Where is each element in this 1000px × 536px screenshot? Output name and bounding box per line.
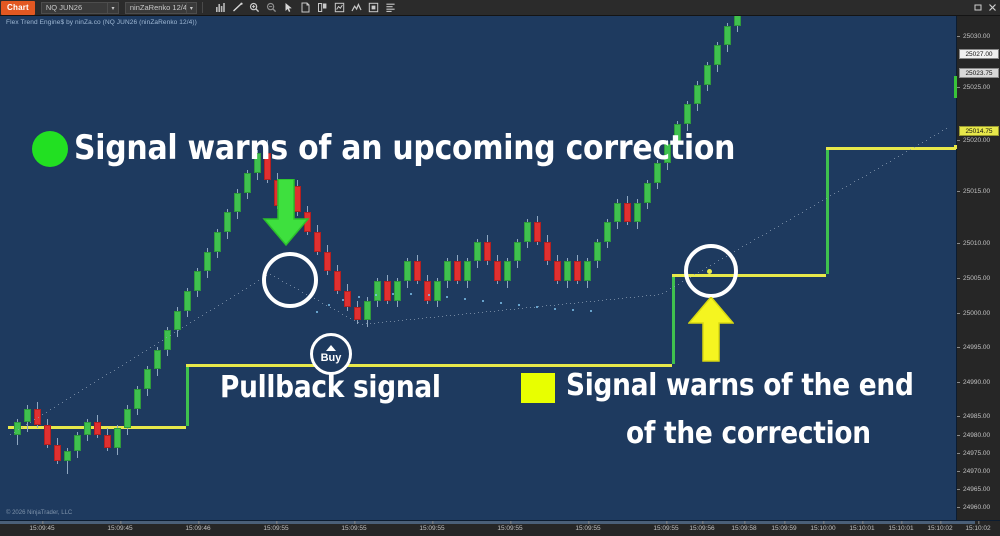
price-axis-tick: 25005.00 [957,274,1000,283]
moving-average-dot [442,316,443,317]
pullback-band-dot [518,304,520,306]
price-axis-tick: 25030.00 [957,32,1000,41]
candle-body [314,232,321,252]
moving-average-dot [522,308,523,309]
moving-average-dot [186,325,187,326]
candle-body [114,428,121,448]
candle-body [614,203,621,223]
candle-body [104,435,111,448]
moving-average-dot [474,313,475,314]
price-axis-tick: 24985.00 [957,412,1000,421]
green-signal-arrow [262,179,310,252]
moving-average-dot [62,402,63,403]
moving-average-dot [410,319,411,320]
candle-body [154,350,161,370]
moving-average-dot [202,315,203,316]
restore-window-icon[interactable] [972,1,984,13]
price-axis-green-marker [954,76,957,98]
candle-body [144,369,151,389]
price-axis-tick: 24980.00 [957,431,1000,440]
moving-average-dot [914,147,915,148]
candle-body [54,445,61,461]
end-correction-highlight-circle [684,244,738,298]
moving-average-dot [490,311,491,312]
moving-average-dot [494,311,495,312]
moving-average-dot [534,307,535,308]
chart-button[interactable]: Chart [1,1,35,15]
candle-body [64,451,71,461]
yellow-signal-text-line1: Signal warns of the end [566,368,914,403]
draw-line-icon[interactable] [231,1,245,15]
moving-average-dot [38,417,39,418]
moving-average-dot [450,315,451,316]
zoom-out-icon[interactable] [265,1,279,15]
drawing-tools-icon[interactable] [367,1,381,15]
candle-body [524,222,531,242]
pullback-band-dot [590,310,592,312]
instrument-value: NQ JUN26 [42,2,107,14]
moving-average-dot [222,303,223,304]
buy-signal-marker: Buy [310,333,352,375]
yellow-signal-bullet [521,373,555,403]
new-chart-icon[interactable] [299,1,313,15]
moving-average-dot [678,284,679,285]
candle-body [214,232,221,252]
time-axis-tick: 15:10:01 [849,525,874,532]
candle-body [384,281,391,301]
toolbar: Chart NQ JUN26 ▾ ninZaRenko 12/4 ▾ [0,0,1000,16]
moving-average-dot [554,305,555,306]
moving-average-dot [790,219,791,220]
candle-body [704,65,711,85]
candle-body [394,281,401,301]
buy-arrow-icon [326,345,336,351]
moving-average-dot [390,321,391,322]
horizontal-scrollbar[interactable] [0,521,975,524]
moving-average-dot [254,283,255,284]
moving-average-dot [850,184,851,185]
time-axis-tick: 15:09:55 [341,525,366,532]
moving-average-dot [178,330,179,331]
price-axis-tick: 25020.00 [957,136,1000,145]
moving-average-dot [362,324,363,325]
moving-average-dot [46,412,47,413]
time-axis-tick: 15:10:02 [965,525,990,532]
candle-body [434,281,441,301]
candle-body [714,45,721,65]
price-axis-tick: 24995.00 [957,343,1000,352]
close-window-icon[interactable] [986,1,998,13]
moving-average-dot [574,303,575,304]
moving-average-dot [666,291,667,292]
moving-average-dot [838,191,839,192]
moving-average-dot [94,382,95,383]
price-axis-grey-label: 25023.75 [959,68,999,78]
candle-body [684,104,691,124]
candle-body [424,281,431,301]
candle-body [234,193,241,213]
data-series-icon[interactable] [316,1,330,15]
moving-average-dot [602,300,603,301]
yellow-signal-text-line2: of the correction [626,416,871,451]
moving-average-dot [774,228,775,229]
moving-average-dot [246,288,247,289]
cursor-icon[interactable] [282,1,296,15]
time-axis-tick: 15:09:45 [29,525,54,532]
moving-average-dot [778,226,779,227]
toolbar-divider [202,2,203,13]
moving-average-dot [738,249,739,250]
moving-average-dot [86,387,87,388]
moving-average-dot [590,301,591,302]
candle-body [604,222,611,242]
candle-body [494,261,501,281]
properties-icon[interactable] [384,1,398,15]
pullback-band-dot [554,308,556,310]
moving-average-dot [130,360,131,361]
moving-average-dot [326,305,327,306]
candle-body [484,242,491,262]
candle-body [344,291,351,307]
moving-average-dot [614,299,615,300]
moving-average-dot [470,313,471,314]
pullback-band-dot [446,296,448,298]
candle-body [644,183,651,203]
moving-average-dot [502,310,503,311]
moving-average-dot [862,177,863,178]
candle-body [224,212,231,232]
moving-average-dot [434,317,435,318]
candle-body [624,203,631,223]
moving-average-dot [630,297,631,298]
price-axis-tick: 25025.00 [957,83,1000,92]
moving-average-dot [114,370,115,371]
time-axis-tick: 15:10:02 [927,525,952,532]
candle-body [454,261,461,281]
moving-average-dot [826,198,827,199]
moving-average-dot [762,235,763,236]
candle-body [324,252,331,272]
pullback-band-dot [572,309,574,311]
candle-body [374,281,381,301]
candle-body [464,261,471,281]
candle-body [404,261,411,281]
pullback-band-dot [410,293,412,295]
price-axis[interactable]: 25030.0025025.0025020.0025015.0025010.00… [956,16,1000,520]
candle-body [94,422,101,435]
moving-average-dot [422,318,423,319]
moving-average-dot [654,295,655,296]
moving-average-dot [162,340,163,341]
time-axis-tick: 15:09:55 [575,525,600,532]
candle-body [564,261,571,281]
chevron-down-icon[interactable]: ▾ [107,3,118,13]
candle-body [334,271,341,291]
moving-average-dot [110,372,111,373]
candle-body [204,252,211,272]
moving-average-dot [122,365,123,366]
moving-average-dot [798,214,799,215]
moving-average-dot [330,307,331,308]
moving-average-dot [886,163,887,164]
moving-average-dot [194,320,195,321]
pullback-band-dot [316,311,318,313]
green-signal-bullet [32,131,68,167]
candle-body [164,330,171,350]
pullback-band-dot [328,304,330,306]
moving-average-dot [662,293,663,294]
moving-average-dot [750,242,751,243]
moving-average-dot [402,320,403,321]
pullback-band-dot [358,296,360,298]
candle-body [584,261,591,281]
moving-average-dot [594,301,595,302]
price-axis-tick: 24965.00 [957,485,1000,494]
pullback-band-dot [464,298,466,300]
price-axis-tick: 24970.00 [957,467,1000,476]
moving-average-dot [482,312,483,313]
candle-body [514,242,521,262]
pullback-band-dot [482,300,484,302]
moving-average-dot [70,397,71,398]
moving-average-dot [214,308,215,309]
price-axis-tick: 25010.00 [957,239,1000,248]
time-axis-tick: 15:09:55 [653,525,678,532]
pullback-band-dot [500,302,502,304]
moving-average-dot [394,321,395,322]
candle-body [184,291,191,311]
moving-average-dot [342,314,343,315]
moving-average-dot [866,175,867,176]
time-axis-tick: 15:09:59 [771,525,796,532]
trend-line-green [672,274,675,364]
price-axis-yellow-marker [954,145,957,149]
time-axis-tick: 15:09:45 [107,525,132,532]
candle-body [534,222,541,242]
candle-body [84,422,91,435]
moving-average-dot [138,355,139,356]
plot-area[interactable]: Flex Trend Engine$ by ninZa.co (NQ JUN26… [0,16,956,520]
green-signal-highlight-circle [262,252,318,308]
moving-average-dot [54,407,55,408]
candle-body [44,425,51,445]
time-axis-tick: 15:09:58 [731,525,756,532]
price-axis-tick: 24960.00 [957,503,1000,512]
moving-average-dot [154,345,155,346]
instrument-selector[interactable]: NQ JUN26 ▾ [41,2,119,14]
trend-line-green [826,147,829,274]
price-axis-tick: 24975.00 [957,449,1000,458]
candle-body [194,271,201,291]
moving-average-dot [650,295,651,296]
time-axis-tick: 15:09:56 [689,525,714,532]
moving-average-dot [102,377,103,378]
moving-average-dot [530,307,531,308]
ninjatrader-chart-window: Chart NQ JUN26 ▾ ninZaRenko 12/4 ▾ [0,0,1000,536]
moving-average-dot [550,305,551,306]
candle-body [474,242,481,262]
moving-average-dot [582,302,583,303]
moving-average-dot [382,322,383,323]
candle-body [504,261,511,281]
trend-line-green [186,364,189,426]
moving-average-dot [146,350,147,351]
moving-average-dot [322,303,323,304]
chart-frame: Flex Trend Engine$ by ninZa.co (NQ JUN26… [0,16,1000,536]
zoom-in-icon[interactable] [248,1,262,15]
moving-average-dot [802,212,803,213]
moving-average-dot [878,168,879,169]
candle-body [694,85,701,105]
moving-average-dot [766,233,767,234]
moving-average-dot [898,156,899,157]
moving-average-dot [210,310,211,311]
time-axis[interactable]: 15:09:4515:09:4515:09:4615:09:5515:09:55… [0,520,1000,536]
moving-average-dot [430,317,431,318]
moving-average-dot [874,170,875,171]
price-axis-white-label: 25027.00 [959,49,999,59]
chevron-down-icon[interactable]: ▾ [186,3,196,13]
candle-body [364,301,371,321]
moving-average-dot [926,140,927,141]
moving-average-dot [938,133,939,134]
time-axis-tick: 15:10:01 [888,525,913,532]
moving-average-dot [346,316,347,317]
price-axis-yellow-label: 25014.75 [959,126,999,136]
pullback-band-dot [342,299,344,301]
candle-body [734,16,741,26]
candle-body [414,261,421,281]
window-controls [972,1,998,13]
candle-body [174,311,181,331]
interval-value: ninZaRenko 12/4 [126,2,186,14]
time-axis-tick: 15:09:55 [497,525,522,532]
pullback-band-dot [375,294,377,296]
candle-body [354,307,361,320]
moving-average-dot [238,293,239,294]
moving-average-dot [414,319,415,320]
moving-average-dot [542,306,543,307]
moving-average-dot [570,303,571,304]
moving-average-dot [642,296,643,297]
price-axis-tick: 25000.00 [957,309,1000,318]
time-axis-tick: 15:09:46 [185,525,210,532]
moving-average-dot [890,161,891,162]
moving-average-dot [10,434,11,435]
time-axis-tick: 15:10:00 [810,525,835,532]
trend-line-yellow [826,147,956,150]
candle-body [24,409,31,422]
moving-average-dot [814,205,815,206]
time-axis-tick: 15:09:55 [419,525,444,532]
pullback-band-dot [428,294,430,296]
indicators-icon[interactable] [333,1,347,15]
candle-body [724,26,731,46]
pullback-signal-text: Pullback signal [220,370,441,405]
pullback-band-dot [392,293,394,295]
moving-average-dot [30,422,31,423]
yellow-signal-arrow [688,297,734,368]
candle-body [544,242,551,262]
moving-average-dot [562,304,563,305]
candle-body [124,409,131,429]
moving-average-dot [350,318,351,319]
candle-body [134,389,141,409]
candle-body [244,173,251,193]
moving-average-dot [230,298,231,299]
moving-average-dot [510,309,511,310]
moving-average-dot [170,335,171,336]
moving-average-dot [462,314,463,315]
moving-average-dot [454,315,455,316]
moving-average-dot [910,149,911,150]
moving-average-dot [902,154,903,155]
candle-body [554,261,561,281]
moving-average-dot [374,323,375,324]
moving-average-dot [370,323,371,324]
interval-selector[interactable]: ninZaRenko 12/4 ▾ [125,2,197,14]
candle-body [594,242,601,262]
moving-average-dot [674,286,675,287]
moving-average-dot [14,432,15,433]
moving-average-dot [514,309,515,310]
bar-chart-icon[interactable] [214,1,228,15]
candle-body [634,203,641,223]
moving-average-dot [622,298,623,299]
candle-body [74,435,81,451]
green-signal-text: Signal warns of an upcoming correction [74,128,735,168]
moving-average-dot [786,221,787,222]
moving-average-dot [78,392,79,393]
moving-average-dot [810,207,811,208]
moving-average-dot [634,297,635,298]
price-axis-tick: 25015.00 [957,187,1000,196]
buy-label: Buy [321,352,342,364]
moving-average-dot [22,427,23,428]
moving-average-dot [610,299,611,300]
trend-line-yellow [186,364,672,367]
candle-body [444,261,451,281]
price-axis-tick: 24990.00 [957,378,1000,387]
strategies-icon[interactable] [350,1,364,15]
toolbar-icon-group [214,1,398,15]
candle-body [574,261,581,281]
time-axis-tick: 15:09:55 [263,525,288,532]
